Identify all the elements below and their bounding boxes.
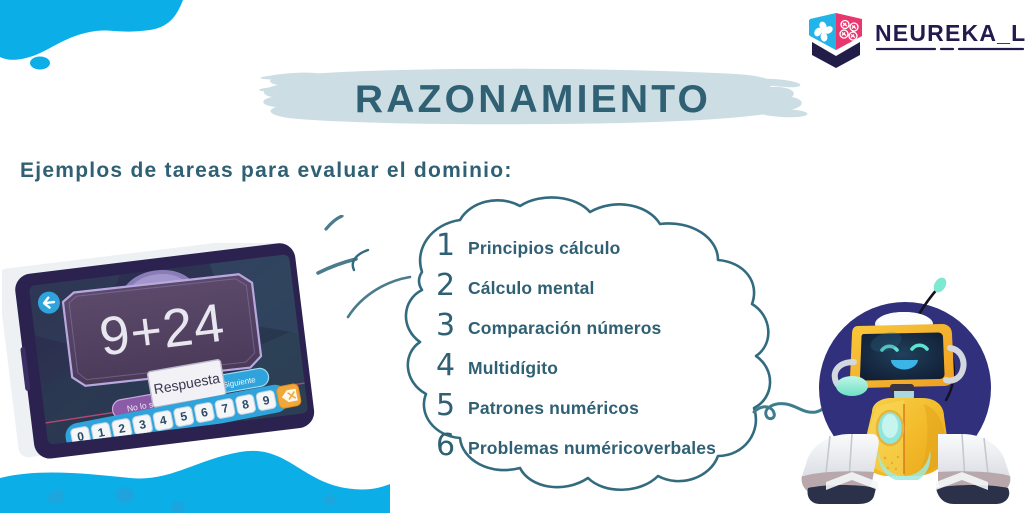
- list-item: 2 Cálculo mental: [436, 270, 806, 310]
- poster-canvas: NEUREKA_LAB RAZONAMIENTO Ejemplos de t: [0, 0, 1025, 513]
- tablet-device: 9+24 No lo sé Siguiente: [2, 243, 342, 468]
- keypad-key: 7: [214, 398, 235, 419]
- list-item-number: 4: [436, 351, 458, 381]
- list-item-label: Multidígito: [468, 360, 558, 378]
- brand-name-wrap: NEUREKA_LAB: [875, 22, 1025, 52]
- page-title: RAZONAMIENTO: [258, 80, 808, 119]
- list-item-label: Problemas numéricoverbales: [468, 440, 716, 458]
- list-item-label: Comparación números: [468, 320, 661, 338]
- keypad-key: 8: [235, 394, 256, 415]
- keypad-key: 9: [256, 390, 277, 411]
- list-item: 4 Multidígito: [436, 350, 806, 390]
- cube-logo-icon: [806, 6, 866, 68]
- keypad-key: 5: [173, 406, 194, 427]
- keypad-key: 4: [153, 410, 174, 431]
- list-item: 5 Patrones numéricos: [436, 390, 806, 430]
- list-item: 3 Comparación números: [436, 310, 806, 350]
- list-item: 6 Problemas numéricoverbales: [436, 430, 806, 470]
- cloud-tail-bubbles: [338, 244, 378, 284]
- task-list: 1 Principios cálculo 2 Cálculo mental 3 …: [436, 230, 806, 470]
- list-item-number: 5: [436, 391, 458, 421]
- keypad-key: 6: [194, 402, 215, 423]
- robot-mascot: [786, 276, 1025, 513]
- backspace-delete-icon: [276, 383, 302, 409]
- dashed-underline-icon: [875, 46, 1025, 52]
- list-item-label: Patrones numéricos: [468, 400, 639, 418]
- list-item-label: Principios cálculo: [468, 240, 620, 258]
- list-item-number: 6: [436, 431, 458, 461]
- brand-name: NEUREKA_LAB: [875, 22, 1025, 45]
- list-item-label: Cálculo mental: [468, 280, 595, 298]
- cyan-blob-top-left: [0, 0, 183, 60]
- subtitle-text: Ejemplos de tareas para evaluar el domin…: [20, 158, 513, 183]
- brand-logo[interactable]: NEUREKA_LAB: [806, 6, 1025, 68]
- list-item-number: 2: [436, 271, 458, 301]
- list-item-number: 1: [436, 231, 458, 261]
- title-banner: RAZONAMIENTO: [258, 61, 808, 133]
- robot-face-screen: [860, 333, 945, 381]
- list-item: 1 Principios cálculo: [436, 230, 806, 270]
- keypad-key: 3: [132, 414, 153, 435]
- list-item-number: 3: [436, 311, 458, 341]
